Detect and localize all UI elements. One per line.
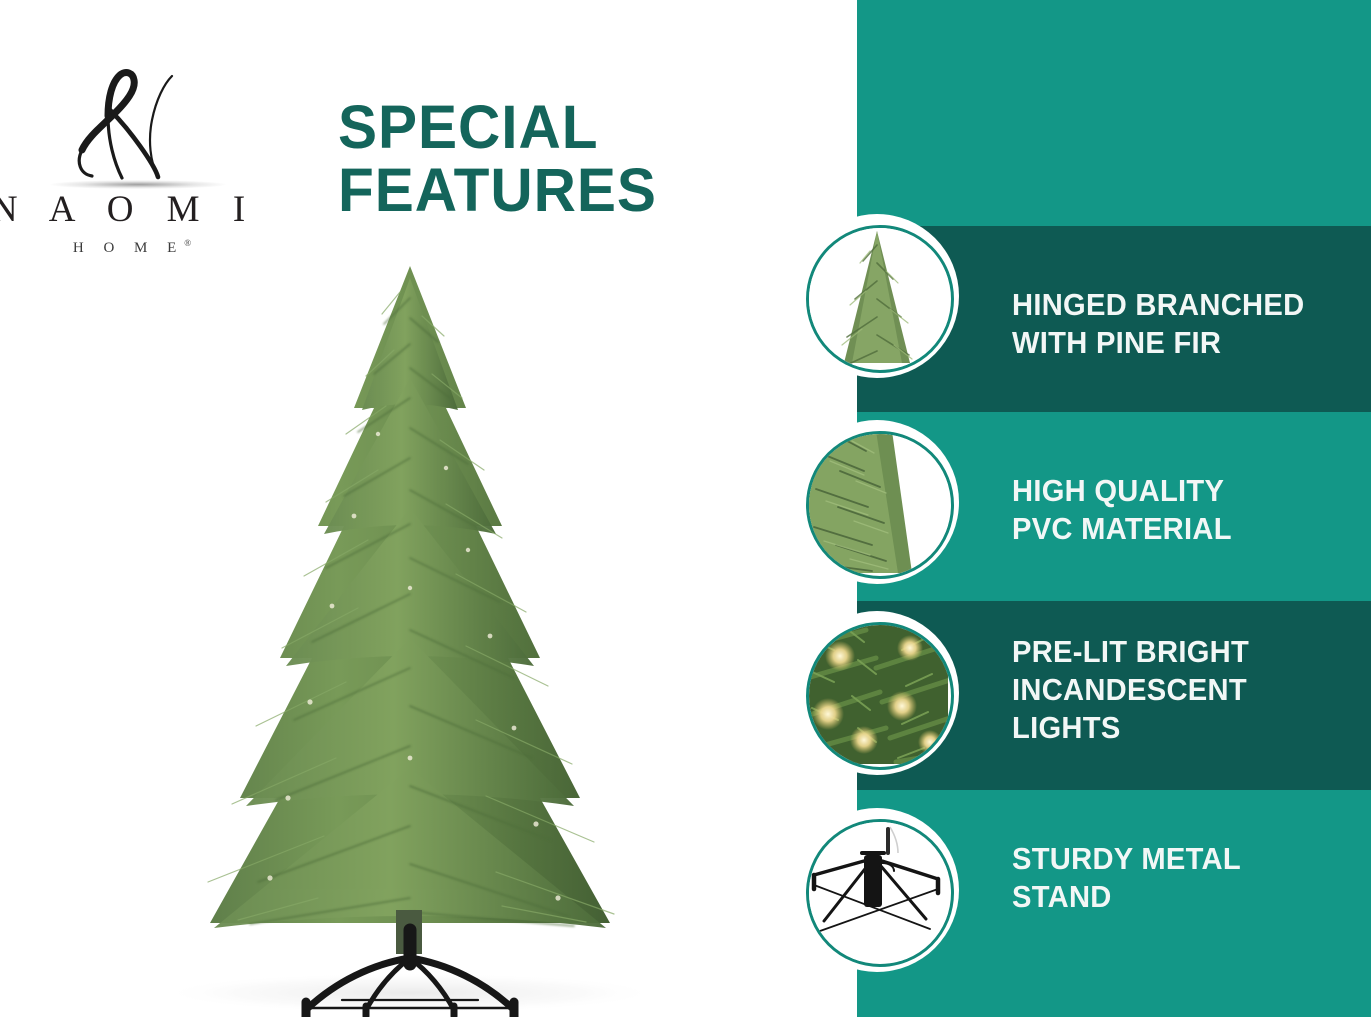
feature-thumb-pvc-material bbox=[795, 420, 959, 584]
feature-row-hinged-branched[interactable]: HINGED BRANCHED WITH PINE FIR bbox=[0, 226, 1371, 412]
thumb-ring bbox=[806, 225, 954, 373]
feature-thumb-hinged-branched bbox=[795, 214, 959, 378]
feature-label-pre-lit-lights: PRE-LIT BRIGHT INCANDESCENT LIGHTS bbox=[1012, 633, 1249, 746]
brand-name: N A O M I bbox=[0, 191, 260, 228]
infographic-stage: N A O M I H O M E® SPECIAL FEATURES bbox=[0, 0, 1371, 1017]
feature-row-pvc-material[interactable]: HIGH QUALITY PVC MATERIAL bbox=[0, 412, 1371, 601]
page-title-line2: FEATURES bbox=[338, 159, 837, 222]
feature-row-metal-stand[interactable]: STURDY METAL STAND bbox=[0, 790, 1371, 1017]
panel-band-top bbox=[857, 0, 1371, 226]
thumb-ring bbox=[806, 431, 954, 579]
page-title: SPECIAL FEATURES bbox=[338, 96, 837, 222]
logo-shadow bbox=[50, 180, 226, 189]
thumb-ring bbox=[806, 819, 954, 967]
page-title-line1: SPECIAL bbox=[338, 96, 837, 159]
feature-label-metal-stand: STURDY METAL STAND bbox=[1012, 840, 1241, 916]
naomi-n-monogram-icon bbox=[0, 58, 272, 188]
feature-thumb-pre-lit-lights bbox=[795, 611, 959, 775]
feature-thumb-metal-stand bbox=[795, 808, 959, 972]
feature-row-pre-lit-lights[interactable]: PRE-LIT BRIGHT INCANDESCENT LIGHTS bbox=[0, 601, 1371, 790]
feature-label-pvc-material: HIGH QUALITY PVC MATERIAL bbox=[1012, 472, 1232, 548]
feature-label-hinged-branched: HINGED BRANCHED WITH PINE FIR bbox=[1012, 286, 1304, 362]
thumb-ring bbox=[806, 622, 954, 770]
